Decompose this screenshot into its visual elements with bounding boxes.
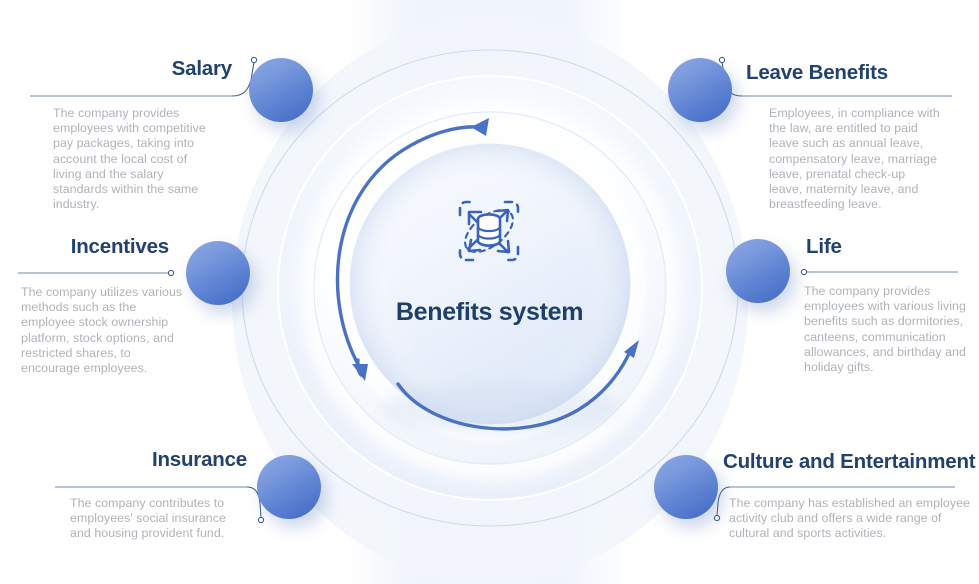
node-text-insurance: The company contributes to employees' so… bbox=[70, 496, 244, 542]
node-title-insurance[interactable]: Insurance bbox=[0, 448, 247, 472]
node-title-culture-entertainment[interactable]: Culture and Entertainment bbox=[723, 450, 979, 474]
node-text-culture-entertainment: The company has established an employee … bbox=[729, 496, 975, 542]
database-orbit-icon bbox=[444, 186, 534, 276]
node-circle-insurance[interactable] bbox=[257, 455, 321, 519]
node-title-incentives[interactable]: Incentives bbox=[0, 235, 169, 259]
connector-life bbox=[801, 269, 958, 274]
node-circle-leave-benefits[interactable] bbox=[668, 58, 732, 122]
node-circle-incentives[interactable] bbox=[186, 241, 250, 305]
node-text-incentives: The company utilizes various methods suc… bbox=[21, 285, 191, 376]
connector-incentives bbox=[18, 270, 174, 275]
node-title-salary[interactable]: Salary bbox=[0, 57, 232, 81]
node-text-life: The company provides employees with vari… bbox=[804, 284, 974, 375]
benefits-system-diagram: Benefits system Salary The company provi… bbox=[0, 0, 979, 584]
node-title-leave-benefits[interactable]: Leave Benefits bbox=[746, 61, 979, 85]
node-circle-culture-entertainment[interactable] bbox=[654, 455, 718, 519]
node-text-leave-benefits: Employees, in compliance with the law, a… bbox=[769, 106, 941, 212]
node-text-salary: The company provides employees with comp… bbox=[53, 106, 219, 212]
node-title-life[interactable]: Life bbox=[806, 235, 936, 259]
node-circle-life[interactable] bbox=[726, 239, 790, 303]
node-circle-salary[interactable] bbox=[249, 58, 313, 122]
